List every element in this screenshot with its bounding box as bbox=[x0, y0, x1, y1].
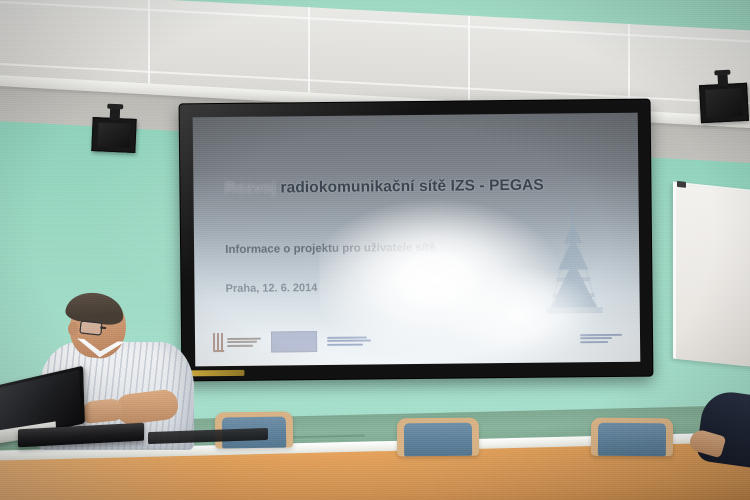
logo-ministry-interior-cr bbox=[580, 334, 622, 343]
logo-eu-fund bbox=[271, 331, 317, 352]
conference-room-photo: Rozvoj radiokomunikační sítě IZS - PEGAS… bbox=[0, 0, 750, 500]
slide-title: Rozvoj radiokomunikační sítě IZS - PEGAS bbox=[225, 177, 544, 198]
whiteboard-clip-icon bbox=[677, 181, 686, 188]
slide-subtitle: Informace o projektu pro uživatele sítě bbox=[225, 242, 435, 256]
logo-text-lines bbox=[327, 336, 371, 345]
logo-ministry-interior bbox=[213, 332, 261, 352]
projection-screen: Rozvoj radiokomunikační sítě IZS - PEGAS… bbox=[180, 100, 653, 381]
partially-visible-person-arm bbox=[692, 392, 750, 464]
logo-spacer bbox=[381, 339, 570, 341]
chair-backrest-pad bbox=[598, 423, 666, 456]
presentation-slide: Rozvoj radiokomunikační sítě IZS - PEGAS… bbox=[193, 113, 641, 367]
whiteboard bbox=[673, 182, 750, 368]
speaker-cone bbox=[97, 122, 130, 147]
slide-title-faded-word: Rozvoj bbox=[225, 180, 277, 198]
slide-title-rest: radiokomunikační sítě IZS - PEGAS bbox=[276, 177, 544, 197]
eu-flag-icon bbox=[271, 331, 317, 352]
wall-speaker-left bbox=[91, 117, 136, 153]
radio-tower-icon bbox=[536, 203, 613, 324]
wall-speaker-right bbox=[699, 83, 749, 123]
chair-3 bbox=[591, 418, 673, 457]
chair-backrest-pad bbox=[404, 423, 472, 457]
speaker-bracket-icon bbox=[110, 108, 121, 120]
ministry-emblem-icon bbox=[213, 333, 224, 352]
speaker-bracket-icon bbox=[717, 74, 728, 87]
slide-logo-strip bbox=[195, 319, 640, 361]
chair-2 bbox=[397, 418, 479, 457]
logo-text-lines bbox=[580, 334, 622, 343]
logo-integrated-operational-programme bbox=[327, 336, 371, 345]
dark-sleeve bbox=[695, 388, 750, 467]
presenter-ear bbox=[68, 322, 78, 336]
slide-date: Praha, 12. 6. 2014 bbox=[226, 282, 318, 295]
laptop bbox=[0, 376, 142, 448]
logo-text-lines bbox=[227, 337, 261, 346]
speaker-cone bbox=[705, 88, 742, 118]
